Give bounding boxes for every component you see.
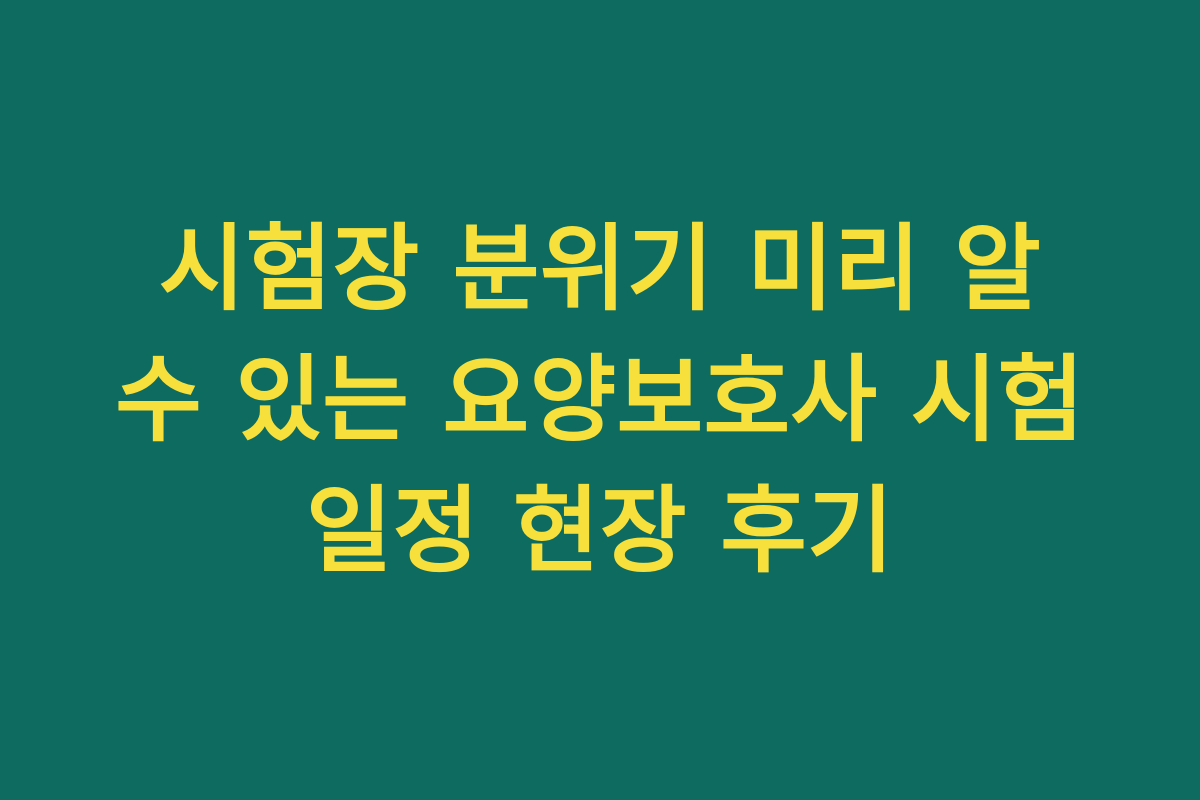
title-card-banner: 시험장 분위기 미리 알 수 있는 요양보호사 시험 일정 현장 후기 bbox=[0, 0, 1200, 800]
title-line-1: 시험장 분위기 미리 알 bbox=[86, 204, 1114, 335]
title-line-2: 수 있는 요양보호사 시험 bbox=[86, 335, 1114, 466]
title-text-block: 시험장 분위기 미리 알 수 있는 요양보호사 시험 일정 현장 후기 bbox=[70, 204, 1130, 597]
title-line-3: 일정 현장 후기 bbox=[86, 466, 1114, 597]
